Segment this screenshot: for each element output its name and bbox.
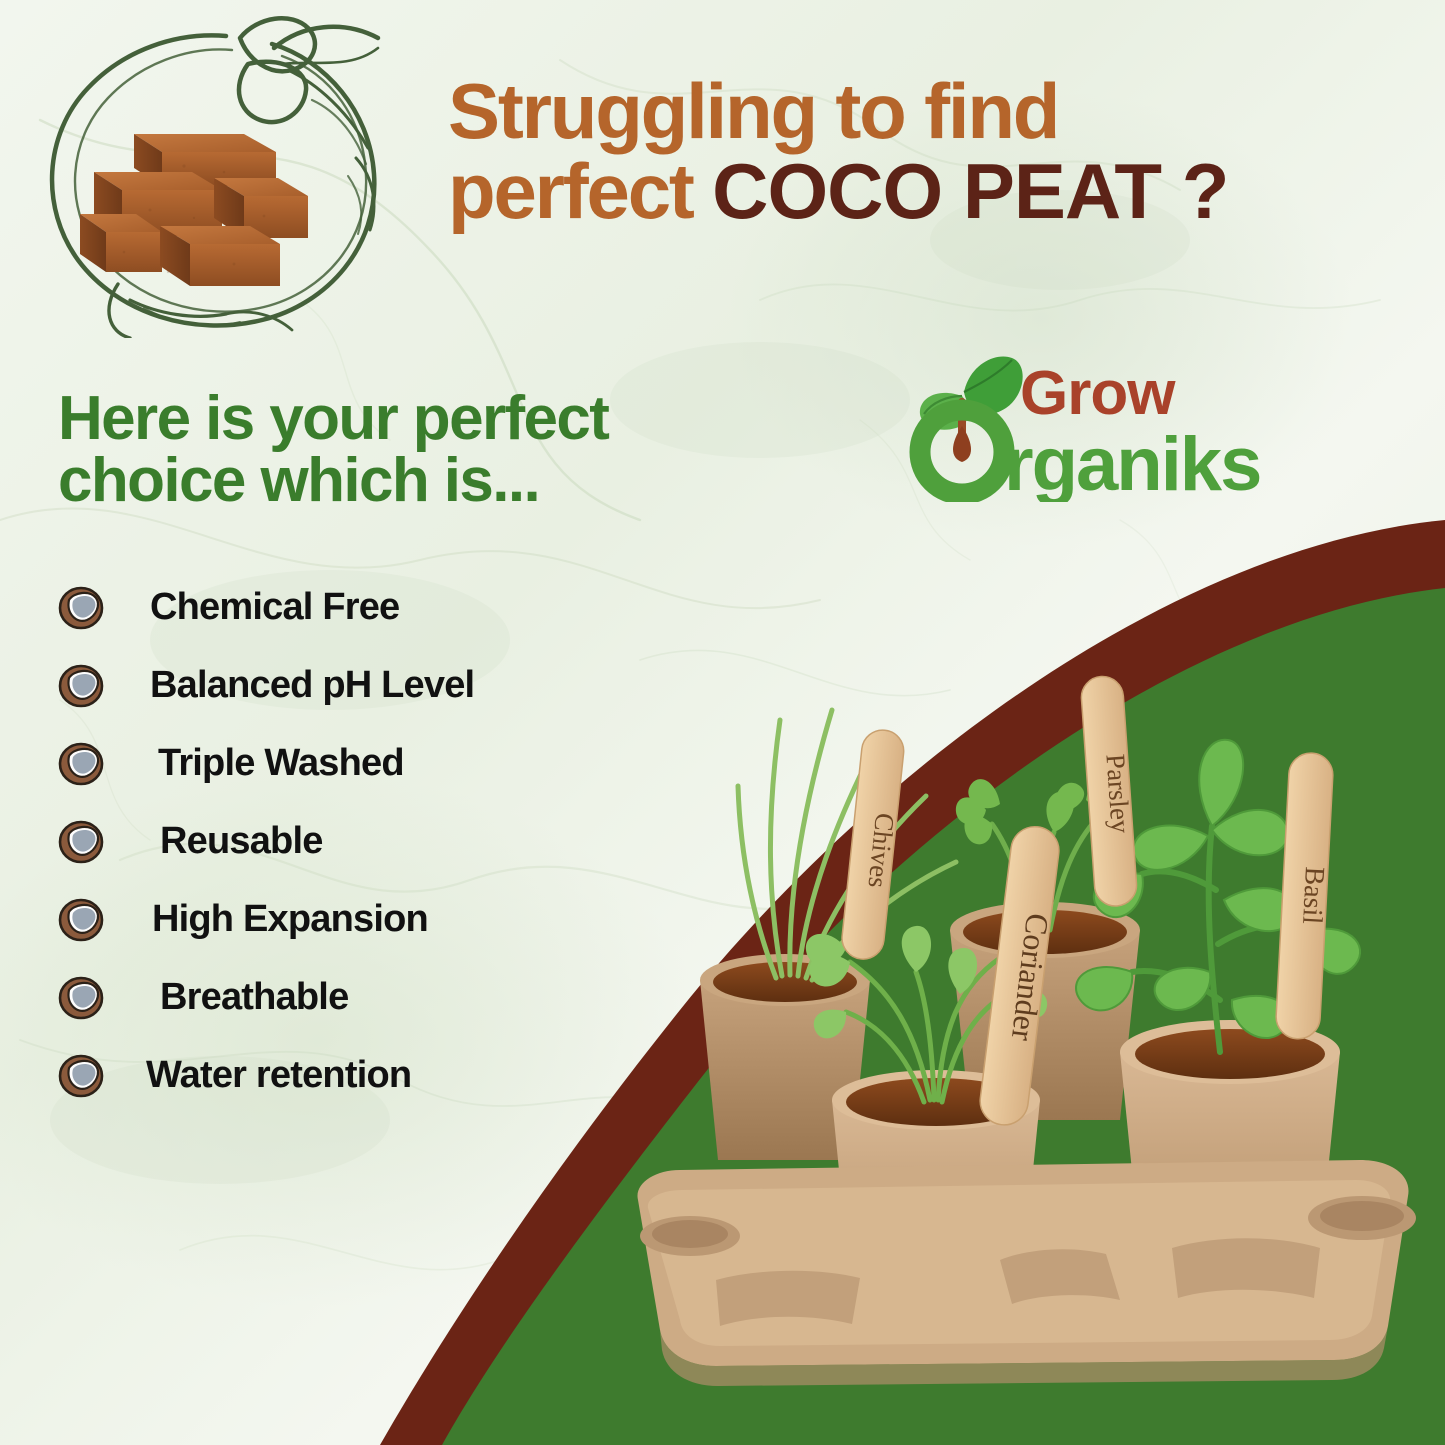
seedling-tray-image: Chives Parsley Coriander Basil [620, 600, 1445, 1445]
feature-label: Chemical Free [150, 586, 399, 629]
subheadline: Here is your perfect choice which is... [58, 388, 818, 512]
coconut-icon [56, 740, 106, 786]
headline-line-1: Struggling to find [448, 74, 1403, 148]
feature-item: Triple Washed [56, 724, 616, 802]
feature-label: Triple Washed [158, 742, 404, 785]
svg-text:Basil: Basil [1296, 866, 1330, 925]
headline-line-2-prefix: perfect [448, 147, 712, 235]
feature-label: High Expansion [152, 898, 428, 941]
coco-peat-bricks-image [64, 86, 326, 296]
feature-label: Breathable [160, 976, 348, 1019]
feature-item: Breathable [56, 958, 616, 1036]
feature-label: Balanced pH Level [150, 664, 474, 707]
coco-peat-brick-badge [26, 8, 406, 338]
svg-text:Parsley: Parsley [1100, 753, 1136, 835]
logo-word-organiks: rganiks [1004, 422, 1260, 502]
pulp-tray [637, 1160, 1416, 1386]
feature-item: Balanced pH Level [56, 646, 616, 724]
headline-line-2: perfect COCO PEAT ? [448, 154, 1403, 228]
subheadline-line-2: choice which is... [58, 450, 818, 512]
feature-item: Reusable [56, 802, 616, 880]
feature-item: Chemical Free [56, 568, 616, 646]
feature-item: Water retention [56, 1036, 616, 1114]
plant-label-chives: Chives [840, 728, 909, 961]
coconut-icon [56, 662, 106, 708]
feature-label: Reusable [160, 820, 323, 863]
subheadline-line-1: Here is your perfect [58, 388, 818, 450]
poster-canvas: Struggling to find perfect COCO PEAT ? H… [0, 0, 1445, 1445]
feature-label: Water retention [146, 1054, 411, 1097]
headline: Struggling to find perfect COCO PEAT ? [448, 74, 1403, 228]
coconut-icon [56, 1052, 106, 1098]
plant-label-basil: Basil [1275, 752, 1336, 1040]
coconut-icon [56, 974, 106, 1020]
brand-logo: Grow rganiks [900, 352, 1290, 502]
plant-label-parsley: Parsley [1080, 675, 1141, 908]
logo-word-grow: Grow [1020, 359, 1176, 428]
coconut-icon [56, 818, 106, 864]
coconut-icon [56, 896, 106, 942]
feature-item: High Expansion [56, 880, 616, 958]
coconut-icon [56, 584, 106, 630]
headline-emphasis: COCO PEAT ? [712, 147, 1228, 235]
feature-list: Chemical Free Balanced pH Level Trip [56, 568, 616, 1114]
